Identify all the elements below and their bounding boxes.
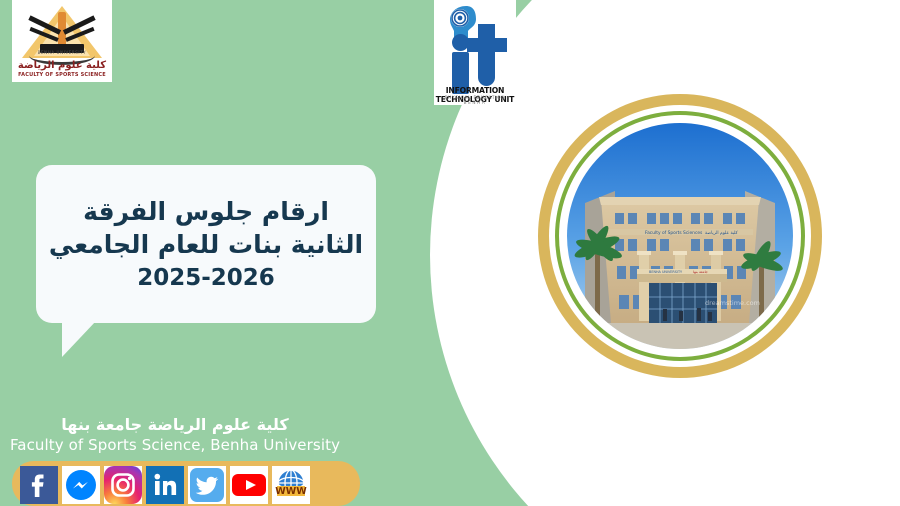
svg-text:كلية علوم الرياضة: كلية علوم الرياضة: [705, 230, 739, 236]
speech-bubble-tail: [62, 321, 96, 357]
youtube-icon[interactable]: [230, 466, 268, 504]
footer-arabic-name: كلية علوم الرياضة جامعة بنها: [0, 415, 350, 434]
linkedin-icon[interactable]: [146, 466, 184, 504]
logo-arc-text: BENHA UNIVERSITY: [12, 50, 112, 55]
website-globe-icon[interactable]: WWW: [272, 466, 310, 504]
letter-t-stem-icon: [478, 24, 495, 86]
announcement-year: 2025-2026: [46, 263, 366, 293]
letter-t-bar-icon: [467, 38, 507, 52]
svg-text:WWW: WWW: [275, 486, 307, 497]
footer-english-name: Faculty of Sports Science, Benha Univers…: [0, 436, 350, 454]
benha-university-faculty-logo: BENHA UNIVERSITY كلية علوم الرياضة FACUL…: [12, 0, 112, 82]
messenger-icon[interactable]: [62, 466, 100, 504]
announcement-line-2: للعام الجامعي: [49, 230, 219, 259]
information-technology-unit-logo: INFORMATION TECHNOLOGY UNIT PHYSICAL EDU…: [434, 0, 516, 105]
building-photograph: Faculty of Sports Sciences كلية علوم الر…: [567, 123, 793, 349]
facebook-icon[interactable]: [20, 466, 58, 504]
svg-text:جامعة بنها: جامعة بنها: [693, 270, 708, 274]
logo-english-name: FACULTY OF SPORTS SCIENCE: [12, 72, 112, 78]
svg-text:BENHA UNIVERSITY: BENHA UNIVERSITY: [649, 270, 683, 274]
announcement-text: ارقام جلوس الفرقة الثانية بنات للعام الج…: [36, 195, 376, 293]
instagram-icon[interactable]: [104, 466, 142, 504]
social-media-icon-row: WWW: [20, 466, 310, 504]
logo-arabic-name: كلية علوم الرياضة: [12, 60, 112, 71]
poster-canvas: BENHA UNIVERSITY كلية علوم الرياضة FACUL…: [0, 0, 900, 506]
twitter-icon[interactable]: [188, 466, 226, 504]
it-logo-subtitle-2: BENHA: [434, 100, 516, 105]
svg-text:dreamstime.com: dreamstime.com: [705, 299, 760, 307]
building-photo-ring: Faculty of Sports Sciences كلية علوم الر…: [538, 94, 822, 378]
announcement-speech-bubble: ارقام جلوس الفرقة الثانية بنات للعام الج…: [36, 165, 376, 323]
svg-text:Faculty of Sports Sciences: Faculty of Sports Sciences: [645, 230, 703, 236]
